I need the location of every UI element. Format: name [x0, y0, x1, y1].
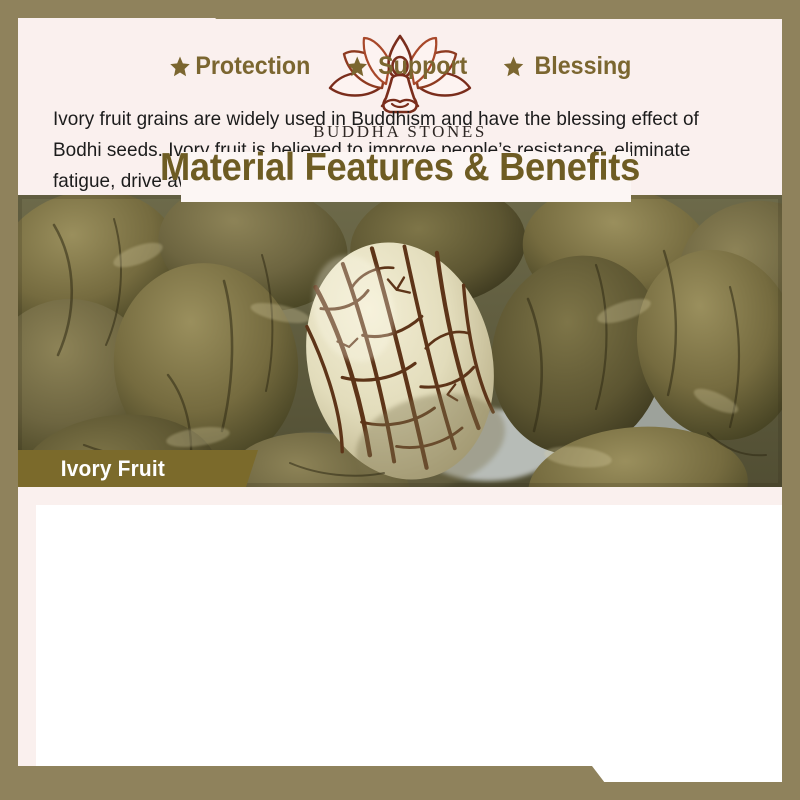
star-icon: [346, 55, 367, 78]
benefit-item-support: Support: [346, 52, 467, 81]
star-icon: [502, 55, 523, 78]
benefit-item-protection: Protection: [169, 52, 310, 81]
benefit-label: Protection: [196, 52, 311, 81]
benefit-label: Blessing: [534, 52, 631, 81]
frame-left-rail: [0, 0, 18, 800]
poster: BUDDHA STONES Material Features & Benefi…: [0, 0, 800, 800]
benefit-item-blessing: Blessing: [502, 52, 631, 81]
frame-top-band: [0, 0, 800, 19]
page-title: Material Features & Benefits: [45, 146, 756, 190]
photo-caption-label: Ivory Fruit: [61, 456, 165, 482]
frame-right-rail: [782, 0, 800, 800]
photo-caption-ribbon: Ivory Fruit: [18, 450, 258, 487]
benefit-label: Support: [378, 52, 467, 81]
content-card: [18, 487, 782, 782]
benefits-row: Protection Support Blessing: [18, 52, 782, 81]
content-card-surface: [36, 505, 782, 782]
star-icon: [169, 55, 190, 78]
poster-inner-page: BUDDHA STONES Material Features & Benefi…: [18, 18, 782, 782]
ivory-fruit-photo-illustration: [18, 195, 782, 487]
material-photo: [18, 195, 782, 487]
